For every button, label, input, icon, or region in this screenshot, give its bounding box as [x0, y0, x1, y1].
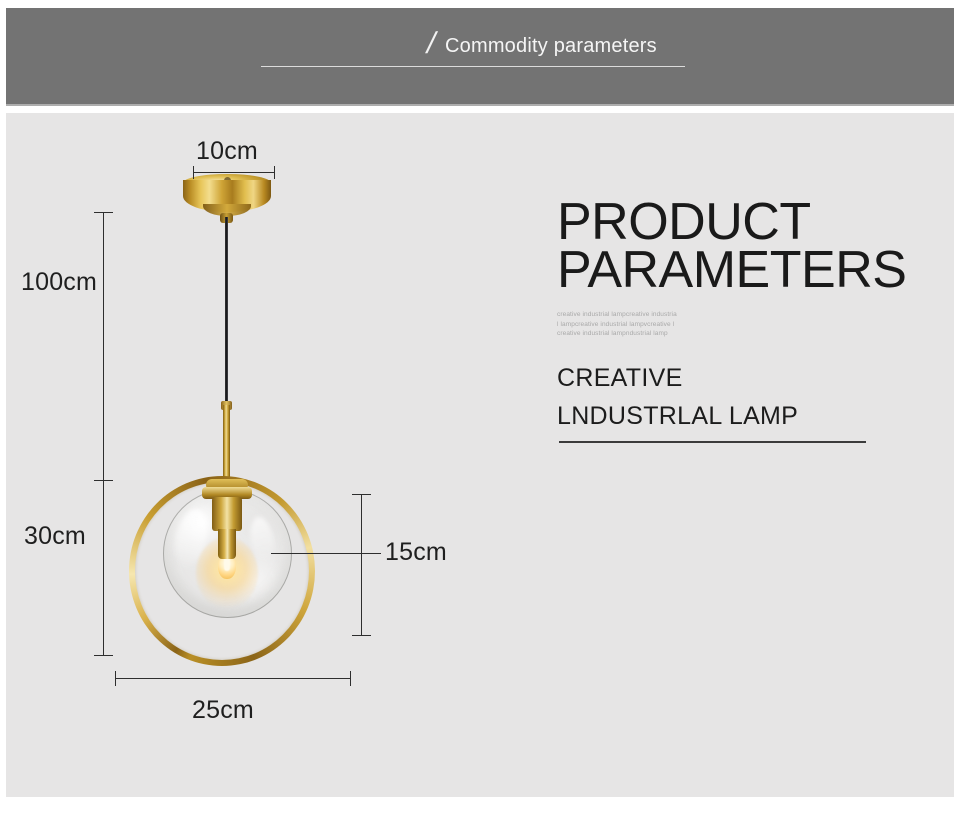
filler-text-line-2: l lampcreative industrial lampvcreative …: [557, 320, 947, 330]
header-title: Commodity parameters: [445, 33, 657, 59]
dim-leader-globe: [271, 553, 381, 554]
gold-stem: [223, 405, 230, 487]
subheading-creative: CREATIVE: [557, 359, 947, 397]
content-panel: 10cm 100cm 30cm 15cm 25cm PRODUCT PARAME…: [6, 113, 954, 797]
header-title-group: / Commodity parameters: [261, 30, 691, 76]
heading-product: PRODUCT: [557, 198, 947, 246]
suspension-cord: [225, 217, 228, 407]
filler-text-line-3: creative industrial lampndustrial lamp: [557, 329, 947, 339]
filler-text-line-1: creative industrial lampcreative industr…: [557, 310, 947, 320]
dim-line-canopy-width: [193, 172, 275, 173]
lamp-illustration: 10cm 100cm 30cm 15cm 25cm: [6, 113, 526, 797]
dim-cap-ring-left: [115, 671, 116, 686]
dim-line-ring-diameter: [115, 678, 351, 679]
dim-cap-ring-right: [350, 671, 351, 686]
dim-cap-canopy-right: [274, 166, 275, 179]
dim-line-globe-diameter: [361, 494, 362, 635]
heading-parameters: PARAMETERS: [557, 246, 947, 294]
dim-cap-globe-bottom: [352, 635, 371, 636]
slash-decoration-icon: /: [423, 27, 439, 61]
dim-cap-vertical-bottom: [94, 655, 113, 656]
dim-label-ring-diameter: 25cm: [192, 696, 254, 724]
dim-cap-vertical-middle: [94, 480, 113, 481]
subheading-lamp: LNDUSTRLAL LAMP: [557, 397, 947, 435]
header-body-gap: [0, 106, 960, 113]
dim-cap-canopy-left: [193, 166, 194, 179]
subheading-underline: [559, 441, 866, 443]
header-band: / Commodity parameters: [6, 8, 954, 104]
dim-line-vertical-main: [103, 212, 104, 656]
ceiling-canopy: [183, 174, 271, 218]
dim-cap-vertical-top: [94, 212, 113, 213]
dim-label-canopy-width: 10cm: [196, 137, 258, 165]
header-divider-rule: [261, 66, 685, 67]
product-spec-page: / Commodity parameters: [0, 0, 960, 819]
product-parameters-text-block: PRODUCT PARAMETERS creative industrial l…: [557, 198, 947, 443]
dim-label-drop-height: 100cm: [21, 268, 97, 296]
dim-label-fixture-height: 30cm: [24, 522, 86, 550]
socket-neck: [218, 529, 236, 559]
socket-body: [212, 497, 242, 531]
dim-label-globe-diameter: 15cm: [385, 538, 447, 566]
dim-cap-globe-top: [352, 494, 371, 495]
